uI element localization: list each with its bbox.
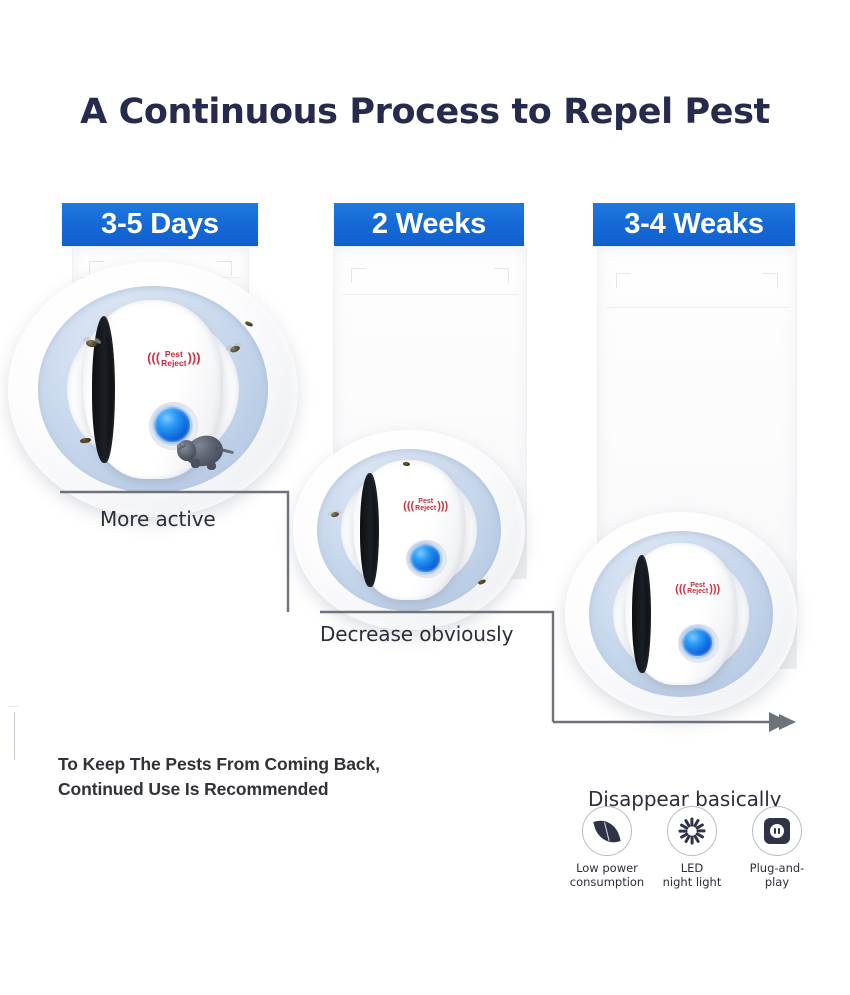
bottom-note-line-1: To Keep The Pests From Coming Back, bbox=[58, 752, 488, 777]
bottom-note: To Keep The Pests From Coming Back, Cont… bbox=[58, 752, 488, 802]
bottom-note-line-2: Continued Use Is Recommended bbox=[58, 777, 488, 802]
feature-icon-row: Low power consumption LED night light Pl… bbox=[568, 806, 816, 889]
outlet-slot-right bbox=[778, 828, 780, 834]
outlet-icon bbox=[764, 818, 790, 844]
feature-led-night-light: LED night light bbox=[653, 806, 731, 889]
burst-icon bbox=[677, 816, 707, 846]
feature-plug-and-play: Plug-and-play bbox=[738, 806, 816, 889]
connector-segment-2 bbox=[320, 612, 553, 722]
outlet-slot-left bbox=[774, 828, 776, 834]
leaf-icon bbox=[593, 816, 620, 846]
scan-artifact-line bbox=[14, 712, 15, 760]
outlet-face bbox=[770, 824, 784, 838]
burst-ray bbox=[690, 836, 693, 845]
feature-label: Low power consumption bbox=[570, 861, 644, 889]
scan-artifact-tick bbox=[8, 706, 18, 707]
infographic-canvas: A Continuous Process to Repel Pest 3-5 D… bbox=[0, 0, 850, 995]
connector-segment-1 bbox=[60, 492, 288, 612]
feature-label: Plug-and-play bbox=[738, 861, 816, 889]
feature-label: LED night light bbox=[663, 861, 722, 889]
feature-circle bbox=[752, 806, 802, 856]
arrowhead-icon-2 bbox=[779, 714, 796, 730]
feature-low-power: Low power consumption bbox=[568, 806, 646, 889]
flow-connector-path bbox=[0, 0, 850, 760]
feature-circle bbox=[667, 806, 717, 856]
feature-circle bbox=[582, 806, 632, 856]
